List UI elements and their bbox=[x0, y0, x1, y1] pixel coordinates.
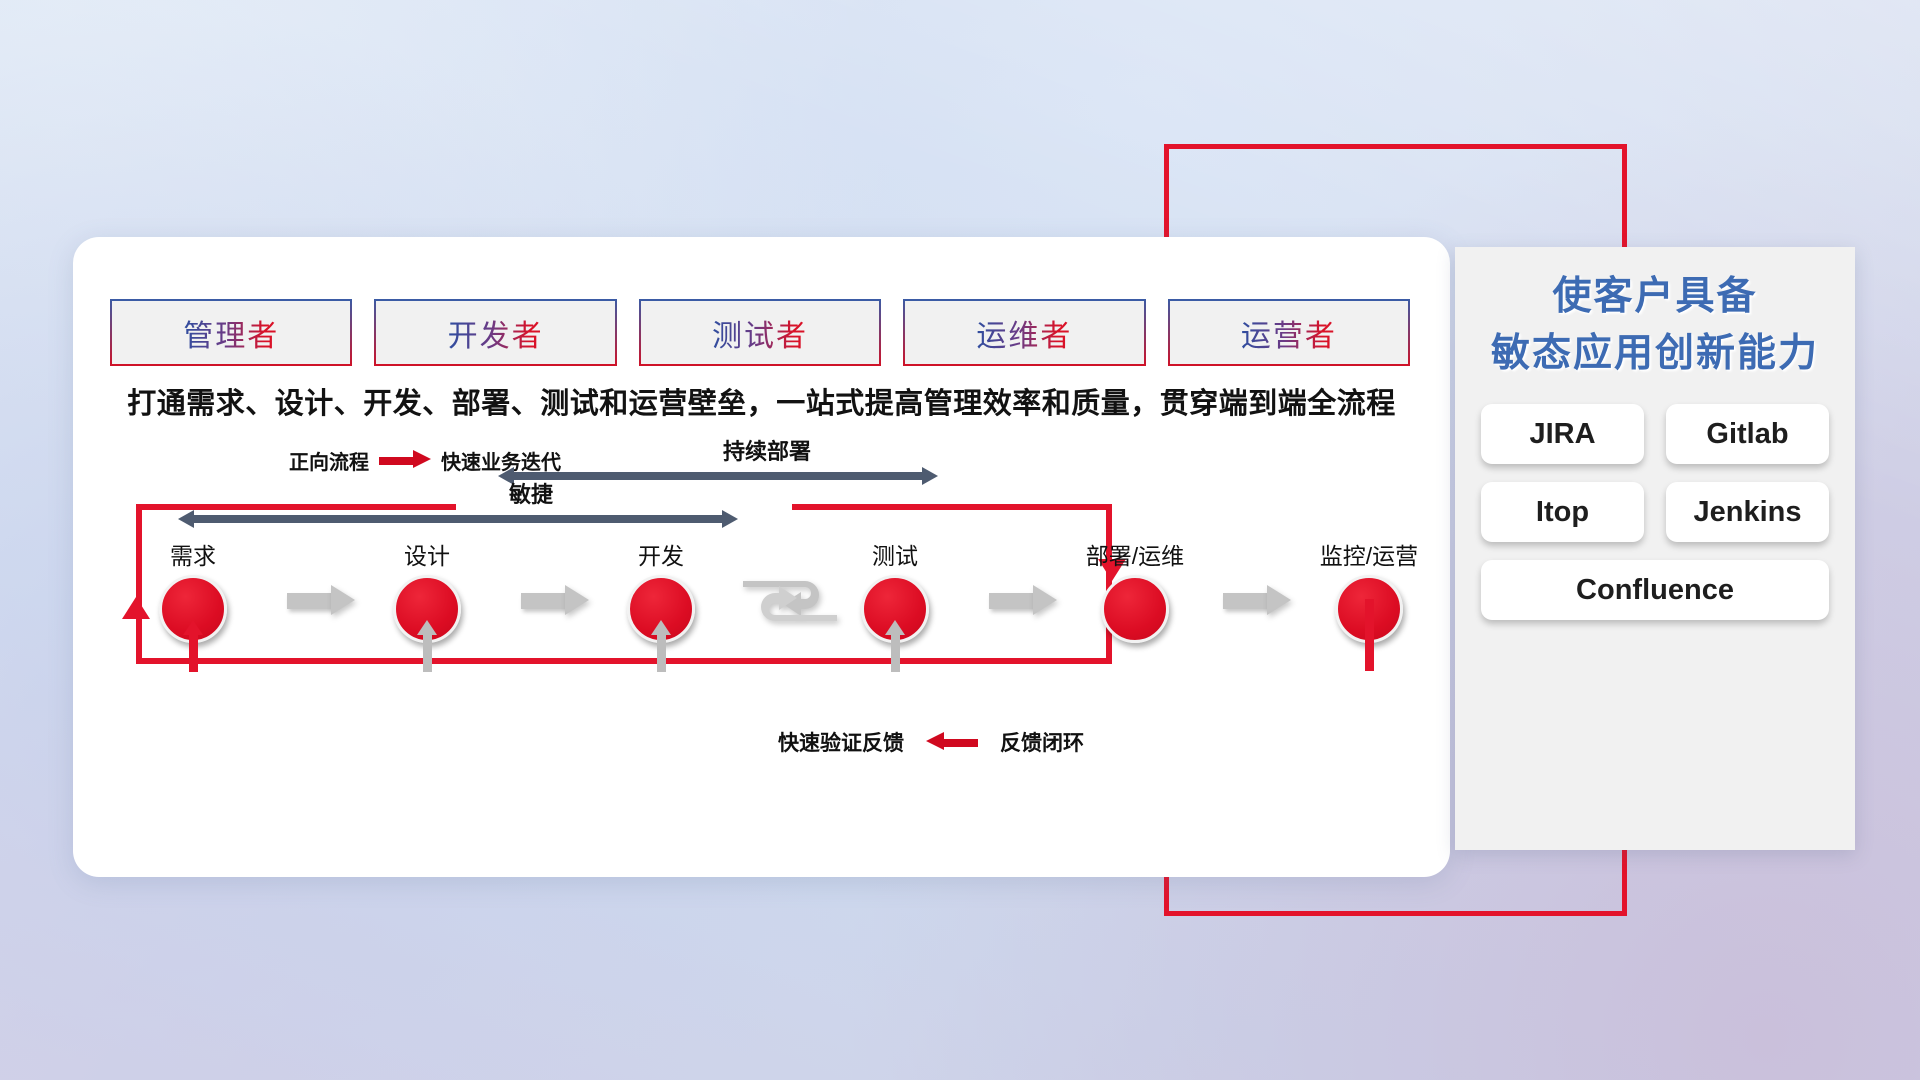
feedback-source-label: 反馈闭环 bbox=[1000, 727, 1084, 757]
stage-tail-gray bbox=[657, 634, 666, 672]
side-panel-title: 使客户具备 敏态应用创新能力 bbox=[1455, 247, 1855, 382]
double-arrow-continuous-deployment-icon bbox=[498, 467, 938, 485]
red-outer-frame-right-top bbox=[1622, 144, 1627, 256]
stage-label: 设计 bbox=[367, 537, 487, 571]
tool-button-itop[interactable]: Itop bbox=[1481, 482, 1644, 542]
pipeline-stage-design[interactable]: 设计 bbox=[367, 537, 487, 643]
stage-tail-gray bbox=[423, 634, 432, 672]
arrow-right-red-icon bbox=[379, 455, 431, 466]
tool-button-gitlab[interactable]: Gitlab bbox=[1666, 404, 1829, 464]
side-panel: 使客户具备 敏态应用创新能力 JIRA Gitlab Itop Jenkins … bbox=[1455, 247, 1855, 850]
stage-label: 测试 bbox=[835, 537, 955, 571]
side-panel-title-line-2: 敏态应用创新能力 bbox=[1455, 326, 1855, 383]
tool-button-jira[interactable]: JIRA bbox=[1481, 404, 1644, 464]
red-outer-frame-right-bottom bbox=[1622, 840, 1627, 916]
tool-list: JIRA Gitlab Itop Jenkins Confluence bbox=[1481, 404, 1829, 620]
span-label-continuous-deployment: 持续部署 bbox=[723, 434, 811, 466]
role-box-operations[interactable]: 运营者 bbox=[1170, 299, 1408, 366]
stage-tail-gray bbox=[891, 634, 900, 672]
feedback-loop-legend: 快速验证反馈 反馈闭环 bbox=[778, 727, 1084, 757]
role-box-developer[interactable]: 开发者 bbox=[376, 299, 614, 366]
red-loop-top-right-segment bbox=[792, 504, 1112, 510]
role-box-list: 管理者 开发者 测试者 运维者 运营者 bbox=[112, 299, 1408, 366]
stage-label: 部署/运维 bbox=[1045, 537, 1225, 571]
role-label: 运维者 bbox=[976, 311, 1072, 355]
pipeline: 需求 设计 开发 测试 部署/ bbox=[97, 537, 1157, 667]
stage-label: 需求 bbox=[133, 537, 253, 571]
description-text: 打通需求、设计、开发、部署、测试和运营壁垒，一站式提高管理效率和质量，贯穿端到端… bbox=[73, 380, 1450, 422]
bidirectional-cycle-arrow-icon bbox=[741, 575, 839, 627]
pipeline-stage-monitor-operations[interactable]: 监控/运营 bbox=[1279, 537, 1459, 643]
arrow-left-red-icon bbox=[926, 737, 978, 748]
flow-arrow-1-icon bbox=[287, 585, 355, 615]
role-box-ops[interactable]: 运维者 bbox=[905, 299, 1143, 366]
stage-label: 监控/运营 bbox=[1279, 537, 1459, 571]
flow-arrow-2-icon bbox=[521, 585, 589, 615]
stage-node-circle bbox=[1101, 575, 1169, 643]
pipeline-stage-deploy-ops[interactable]: 部署/运维 bbox=[1045, 537, 1225, 643]
red-loop-top-left-segment bbox=[136, 504, 456, 510]
role-box-tester[interactable]: 测试者 bbox=[641, 299, 879, 366]
feedback-target-label: 快速验证反馈 bbox=[778, 727, 904, 757]
role-label: 运营者 bbox=[1241, 311, 1337, 355]
stage-tail-red bbox=[189, 634, 198, 672]
role-box-manager[interactable]: 管理者 bbox=[112, 299, 350, 366]
main-card: 管理者 开发者 测试者 运维者 运营者 打通需求、设计、开发、部署、测试和运营壁… bbox=[73, 237, 1450, 877]
tool-button-confluence[interactable]: Confluence bbox=[1481, 560, 1829, 620]
side-panel-title-line-1: 使客户具备 bbox=[1455, 269, 1855, 326]
role-label: 测试者 bbox=[712, 311, 808, 355]
tool-button-jenkins[interactable]: Jenkins bbox=[1666, 482, 1829, 542]
pipeline-stage-testing[interactable]: 测试 bbox=[835, 537, 955, 643]
role-label: 管理者 bbox=[183, 311, 279, 355]
stage-label: 开发 bbox=[601, 537, 721, 571]
role-label: 开发者 bbox=[448, 311, 544, 355]
pipeline-stage-development[interactable]: 开发 bbox=[601, 537, 721, 643]
forward-flow-source-label: 正向流程 bbox=[289, 446, 369, 475]
pipeline-stage-requirement[interactable]: 需求 bbox=[133, 537, 253, 643]
stage-tail-red-down bbox=[1365, 599, 1374, 671]
